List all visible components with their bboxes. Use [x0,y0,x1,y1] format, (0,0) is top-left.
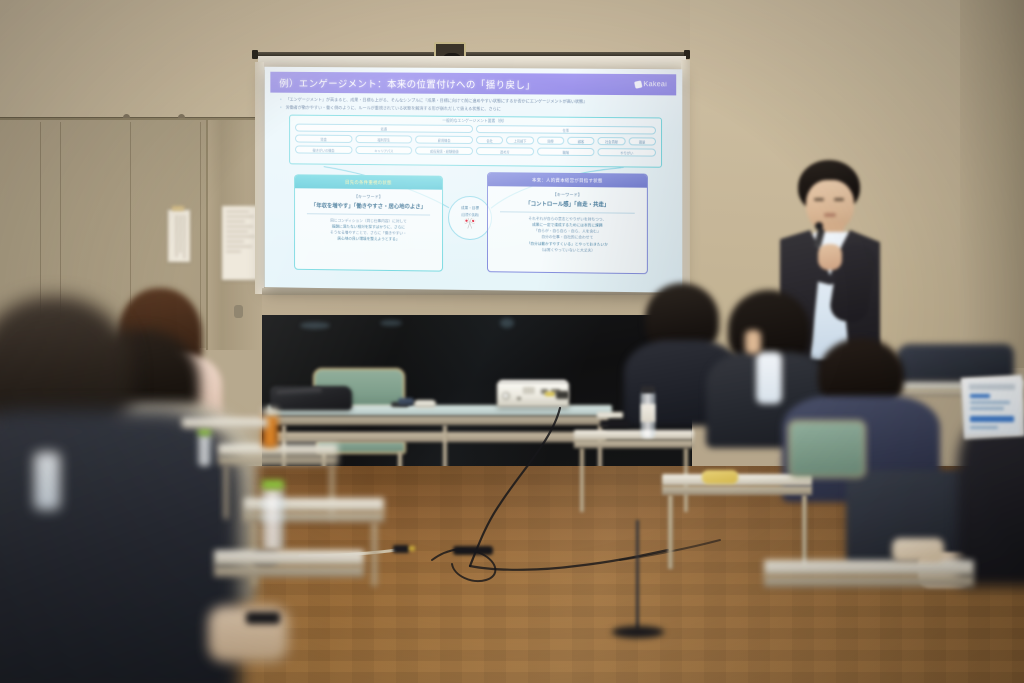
card-divider [500,211,635,213]
grid-cell: 顧客 [567,137,595,145]
grid-cell: 進め方 [476,147,534,156]
keyword-label: 【キーワード】 [494,191,641,198]
card-line: 居心地の良い環境を整えようとする」 [301,235,436,243]
grid-cell: 職場 [537,148,595,157]
projection-screen: 例）エンゲージメント：本来の位置付けへの「揺り戻し」 Kakeai ▪ 「エンゲ… [264,67,682,293]
slide-title: 例）エンゲージメント：本来の位置付けへの「揺り戻し」 [279,75,535,91]
presenter-hand [818,244,842,270]
keyword-label: 【キーワード】 [301,193,436,200]
desk-leg [372,522,377,586]
grid-cell: 処遇 [295,124,473,133]
audience-chair-green[interactable] [788,420,866,478]
slide-center-circle: 成果・目標 （目標や挑戦） 🎌 [448,196,492,240]
wall-panel-seam [200,122,201,348]
desk-leg [802,495,807,569]
item-on-front-desk[interactable] [892,538,944,562]
bottle-cap [262,408,278,415]
presenter-mouth [824,213,836,217]
circle-line-2: （目標や挑戦） [459,212,481,217]
audience-desk [574,430,694,440]
card-left-body: 【キーワード】 「年収を増やす」「働きやすさ・居心地のよさ」 同じコンディション… [295,188,442,247]
microphone-head-icon [815,222,823,230]
audience-desk-front [764,560,974,576]
laptop-screen[interactable] [966,380,1020,434]
grid-cell: 成長実感・経験価値 [415,147,473,155]
presenter-remote-dark[interactable] [398,398,414,405]
company-logo: Kakeai [635,81,668,88]
bullet-marker-icon: ▪ [280,104,281,110]
audience-desk-edge [574,440,694,448]
desk-leg [224,465,228,519]
grid-cell: 裁量 [628,137,656,145]
grid-cell: 上司部下 [506,136,533,144]
keyword-main: 「コントロール感」「自走・共走」 [494,199,641,209]
audience-desk-edge [218,456,338,465]
blackboard-reflection [500,318,514,328]
circle-line-1: 成果・目標 [461,206,479,211]
screen-border-right [681,60,690,294]
slide-card-right: 本来：人的資本経営が目指す状態 【キーワード】 「コントロール感」「自走・共走」… [487,172,648,274]
slide-bullet: ▪ 労働者が動かやすい・働く側のように、ルールが重視されている状態を解消する形が… [280,104,670,113]
crossed-flags-icon: 🎌 [463,219,477,230]
bullet-marker-icon: ▪ [280,97,281,103]
wall-notice-vertical [168,210,190,262]
desk-leg [580,448,584,512]
slide-bullets: ▪ 「エンゲージメント」が高まると、成果・目標も上がる、そんなシンプルに『成果・… [280,97,670,115]
grid-cell: 社会貢献 [598,137,626,145]
card-line: （は常くやっていないと大丈夫） [494,246,641,254]
grid-cell: キャリアパス [355,146,412,154]
presenter-eye-left [814,198,824,201]
slide-card-left: 目先の条件重視の状態 【キーワード】 「年収を増やす」「働きやすさ・居心地のよさ… [294,174,443,271]
yellow-pouch-on-desk[interactable] [702,470,738,484]
cable-connector-tag [409,546,415,551]
presenter-eye-right [834,198,844,201]
cable-inline-box [453,546,493,555]
projector-cable-plug [556,391,569,399]
projector-cable-tag [545,392,555,396]
audience-collar-white [756,352,782,404]
seminar-room-photo: 例）エンゲージメント：本来の位置付けへの「揺り戻し」 Kakeai ▪ 「エンゲ… [0,0,1024,683]
projector-vent [523,387,535,394]
foreground-smartphone[interactable] [246,612,280,624]
grid-cell: 会社 [476,136,503,144]
audience-desk-edge [214,566,364,577]
audience-desk-edge [662,486,812,495]
screen-border-left [255,62,264,294]
audience-desk-left-3 [214,550,364,566]
grid-cell: 福利厚生 [355,135,412,143]
front-table-apron [272,416,608,425]
wall-right-column [960,0,1024,368]
audience-desk-left [218,444,338,456]
door-handle[interactable] [234,305,243,318]
bottle-label [641,404,655,422]
grid-cell: 働きがいの機会 [295,145,352,153]
audience-desk-edge [764,576,974,587]
clear-water-bottle-large[interactable] [262,488,284,550]
notebook-on-desk[interactable] [597,412,623,418]
cable-connector [393,545,409,553]
engagement-factor-grid: 一般的なエンゲージメント要素（例） 処遇 仕事 賃金 福利厚生 雇用機会 会社 … [289,115,662,168]
mic-stand-pole [636,520,639,630]
green-tea-bottle[interactable] [198,434,211,466]
bottle-cap-green [262,480,284,489]
projector-indicator [517,397,521,400]
mic-stand-base [612,626,664,638]
card-right-body: 【キーワード】 「コントロール感」「自走・共走」 それぞれが自らの意志とやりがい… [488,186,647,258]
notice-tape [172,206,184,211]
blackboard-reflection [380,320,402,326]
slide-title-bar: 例）エンゲージメント：本来の位置付けへの「揺り戻し」 Kakeai [270,72,676,96]
grid-cell: 賃金 [295,135,352,143]
bullet-text: 労働者が動かやすい・働く側のように、ルールが重視されている状態を解消する形が崩れ… [286,104,501,112]
audience-desk-back-left [182,418,268,428]
grid-cell: やりがい [598,148,656,157]
bottle-cap-green [198,428,211,435]
bottle-cap [641,386,655,393]
grid-cell: 同僚 [537,137,564,145]
smartphone-on-desk[interactable] [600,420,630,427]
front-table-lower-shelf [276,432,606,442]
logo-wordmark: Kakeai [644,81,667,88]
foreground-shirt-collar [34,452,60,510]
desk-leg [668,495,673,569]
grid-cell: 仕事 [476,125,656,134]
projector-lens [502,392,510,400]
grid-cell: 雇用機会 [415,136,473,144]
keyword-main: 「年収を増やす」「働きやすさ・居心地のよさ」 [301,201,436,210]
audience-face-masked [745,330,761,354]
card-divider [307,213,430,215]
presenter-remote[interactable] [414,400,436,408]
blackboard-reflection [300,322,330,329]
kakeai-logo-icon [634,80,642,88]
presentation-slide: 例）エンゲージメント：本来の位置付けへの「揺り戻し」 Kakeai ▪ 「エンゲ… [264,67,682,293]
